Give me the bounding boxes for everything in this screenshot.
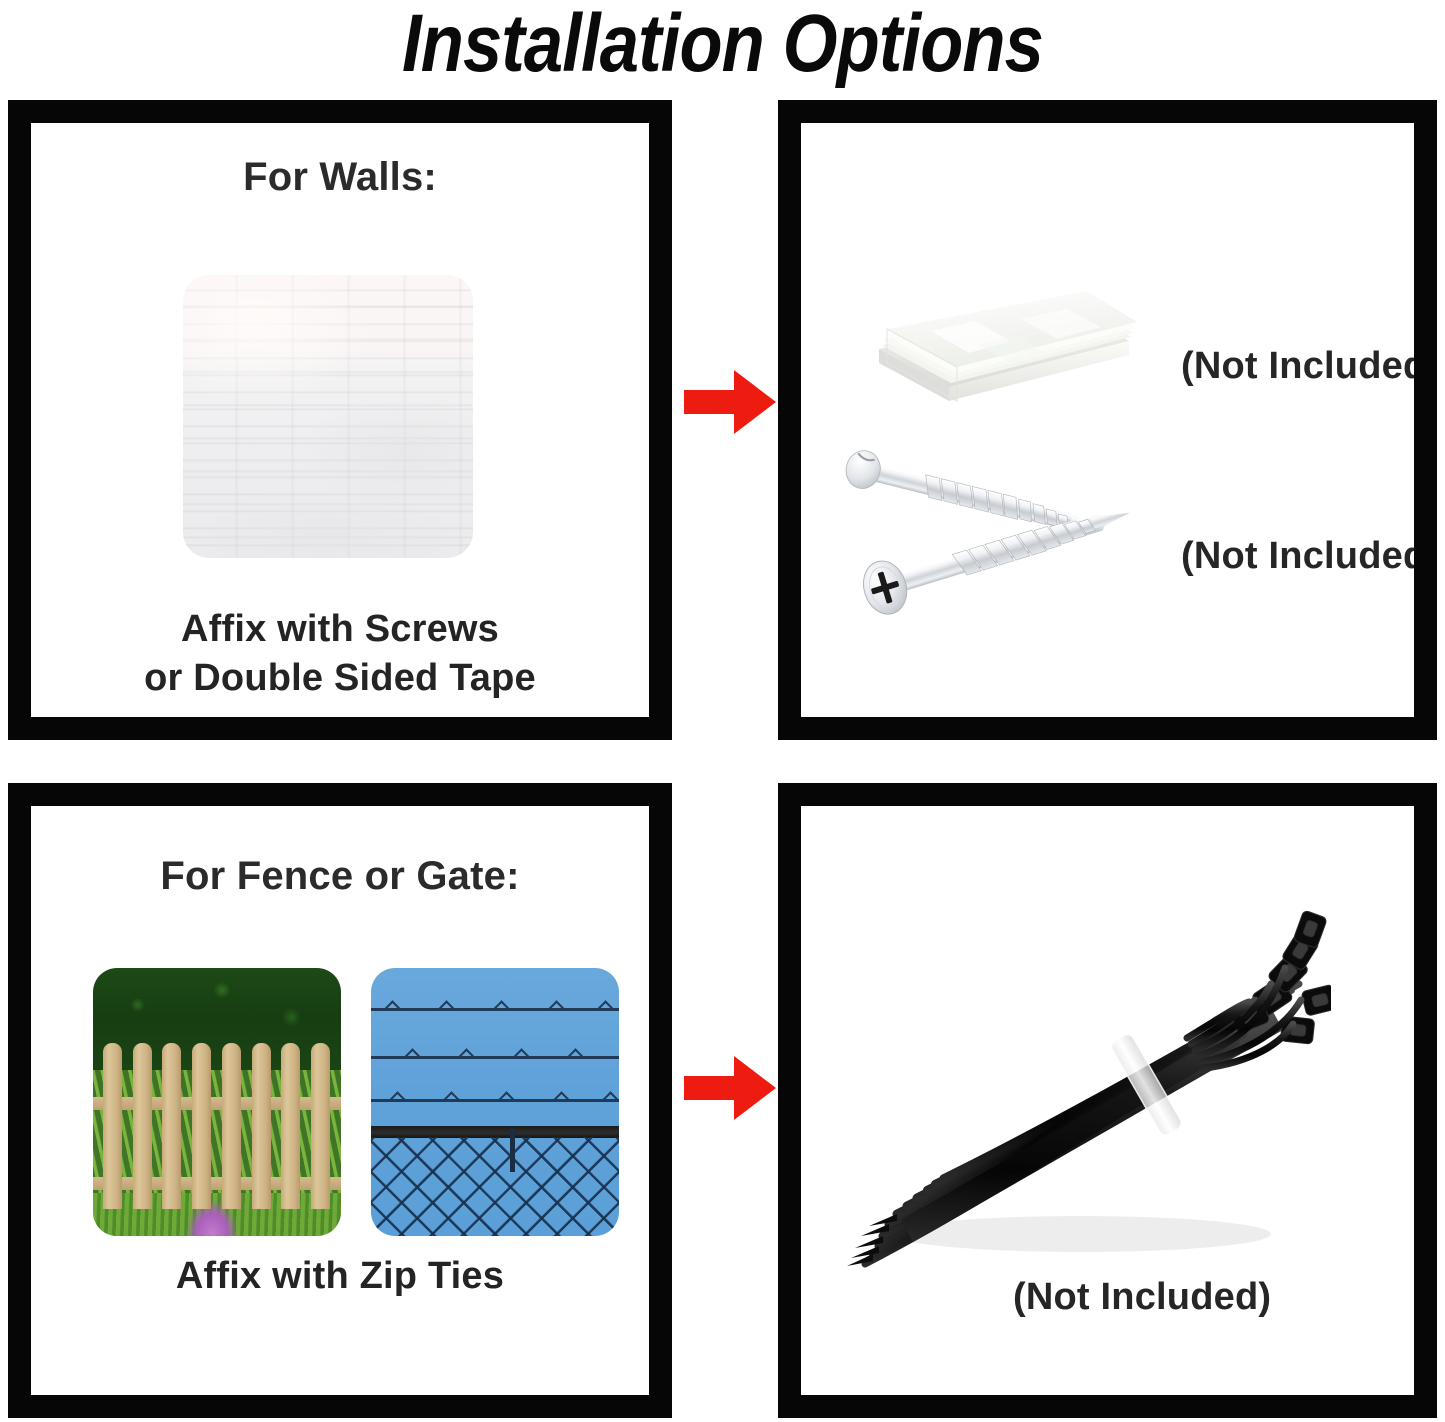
- fence-picket: [281, 1043, 300, 1209]
- caption-line-2: or Double Sided Tape: [31, 654, 649, 703]
- panel-for-walls-inner: For Walls: Affix with Screws or Double S…: [31, 123, 649, 717]
- chain-link-mesh: [371, 1137, 619, 1236]
- caption-line-1: Affix with Screws: [31, 605, 649, 654]
- for-walls-heading: For Walls:: [31, 155, 649, 200]
- zip-ties-not-included-label: (Not Included): [1013, 1276, 1271, 1319]
- red-right-arrow-icon: [682, 366, 778, 438]
- tape-not-included-label: (Not Included): [1181, 345, 1414, 388]
- screws-not-included-label: (Not Included): [1181, 535, 1414, 578]
- panel-wall-hardware: (Not Included): [778, 100, 1437, 740]
- installation-options-infographic: Installation Options For Walls: Affix wi…: [0, 0, 1445, 1422]
- silver-wood-screws-icon: [829, 441, 1179, 631]
- fence-rail-upper: [93, 1097, 341, 1110]
- double-sided-tape-stack-icon: [861, 245, 1151, 420]
- panel-fence-hardware-inner: (Not Included): [801, 806, 1414, 1395]
- panel-for-fence-inner: For Fence or Gate:: [31, 806, 649, 1395]
- wooden-picket-fence-photo: [93, 968, 341, 1236]
- fence-picket: [133, 1043, 152, 1209]
- fence-picket: [103, 1043, 122, 1209]
- fence-picket: [222, 1043, 241, 1209]
- fence-picket: [252, 1043, 271, 1209]
- fence-picket: [311, 1043, 330, 1209]
- red-right-arrow-icon: [682, 1052, 778, 1124]
- panel-wall-hardware-inner: (Not Included): [801, 123, 1414, 717]
- black-zip-tie-bundle-icon: [831, 884, 1331, 1284]
- page-title: Installation Options: [101, 0, 1344, 90]
- panel-for-fence-or-gate: For Fence or Gate:: [8, 783, 672, 1418]
- panel-fence-hardware: (Not Included): [778, 783, 1437, 1418]
- fence-picket: [162, 1043, 181, 1209]
- chain-link-barbed-wire-fence-photo: [371, 968, 619, 1236]
- for-fence-heading: For Fence or Gate:: [31, 854, 649, 899]
- for-walls-caption: Affix with Screws or Double Sided Tape: [31, 605, 649, 702]
- for-fence-caption: Affix with Zip Ties: [31, 1252, 649, 1301]
- fence-picket: [192, 1043, 211, 1209]
- fence-rail-lower: [93, 1177, 341, 1190]
- barbed-wire-strand: [371, 1099, 619, 1102]
- wall-texture-overlay: [183, 275, 473, 558]
- panel-for-walls: For Walls: Affix with Screws or Double S…: [8, 100, 672, 740]
- white-brick-wall-photo: [183, 275, 473, 558]
